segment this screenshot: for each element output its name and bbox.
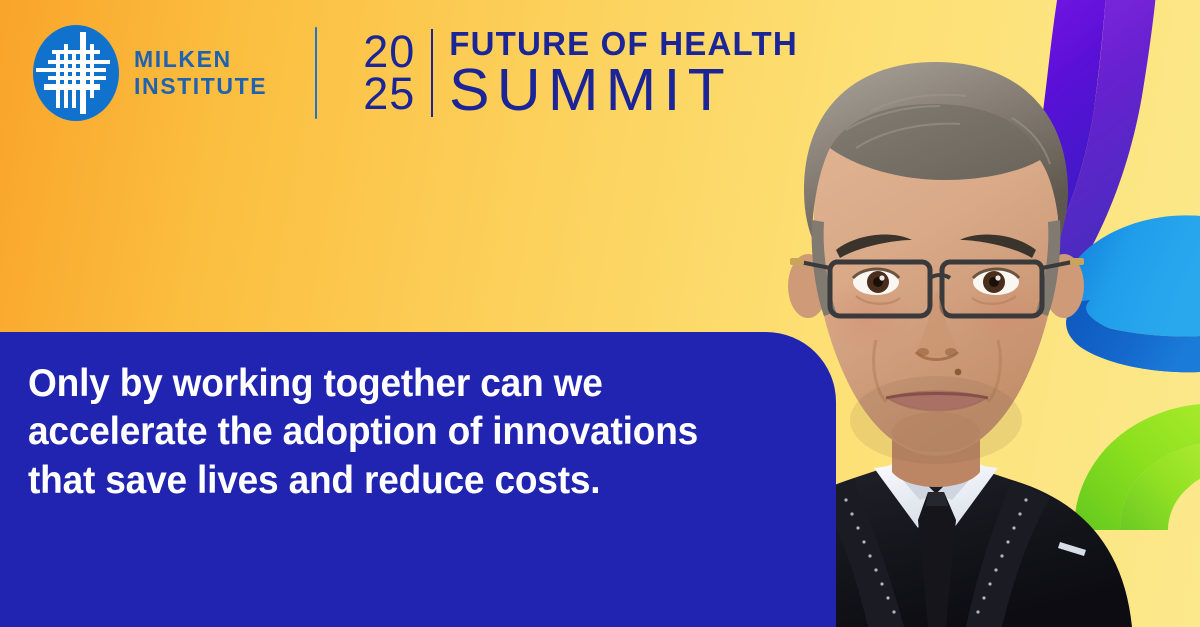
green-ribbon-icon [1074,404,1200,530]
quote-text: Only by working together can we accelera… [28,360,710,505]
milken-institute-logo[interactable]: MILKEN INSTITUTE [32,24,267,122]
org-name-line1: MILKEN [134,46,267,73]
event-title-line2: SUMMIT [449,62,808,118]
event-divider [431,29,433,117]
event-lockup: 20 25 FUTURE OF HEALTH SUMMIT [363,27,798,118]
summit-quote-card: MILKEN INSTITUTE 20 25 FUTURE OF HEALTH … [0,0,1200,627]
lockup-divider [315,27,317,119]
milken-institute-wordmark: MILKEN INSTITUTE [134,46,267,99]
org-name-line2: INSTITUTE [134,73,267,100]
event-title-line1: FUTURE OF HEALTH [449,27,798,60]
header-lockup: MILKEN INSTITUTE 20 25 FUTURE OF HEALTH … [32,24,798,122]
year-top: 20 [363,31,415,73]
milken-lattice-circle-icon [32,24,120,122]
event-year: 20 25 [363,31,415,116]
event-title: FUTURE OF HEALTH SUMMIT [449,27,798,118]
quote-panel: Only by working together can we accelera… [0,332,836,627]
year-bottom: 25 [363,73,415,115]
